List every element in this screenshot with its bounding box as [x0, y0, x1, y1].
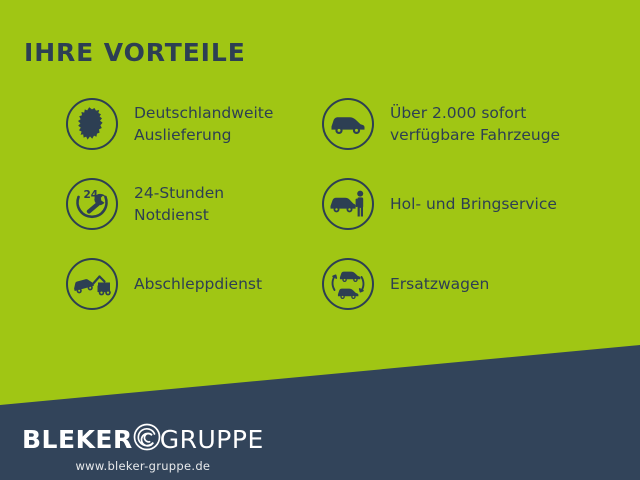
feature-hol-und-bringservice: Hol- und Bringservice	[322, 178, 557, 230]
diagonal-navy-panel	[0, 0, 640, 480]
germany-map-icon	[66, 98, 118, 150]
feature-verfuegbare-fahrzeuge: Über 2.000 sofort verfügbare Fahrzeuge	[322, 98, 560, 150]
feature-ersatzwagen: Ersatzwagen	[322, 258, 489, 310]
feature-label: Deutschlandweite Auslieferung	[134, 102, 273, 146]
feature-label: Abschleppdienst	[134, 273, 262, 295]
logo-bleker-text: BLEKER	[22, 425, 133, 454]
feature-label: Über 2.000 sofort verfügbare Fahrzeuge	[390, 102, 560, 146]
logo-website-url: www.bleker-gruppe.de	[75, 459, 210, 473]
feature-label: Hol- und Bringservice	[390, 193, 557, 215]
car-with-person-icon	[322, 178, 374, 230]
feature-24-stunden-notdienst: 24 24-Stunden Notdienst	[66, 178, 224, 230]
tow-truck-icon	[66, 258, 118, 310]
feature-deutschlandweite-auslieferung: Deutschlandweite Auslieferung	[66, 98, 273, 150]
spiral-circle-logo-icon	[132, 422, 162, 456]
logo-wordmark: BLEKER GRUPPE	[22, 424, 264, 454]
page-title: IHRE VORTEILE	[24, 38, 246, 67]
footer-logo-block: BLEKER GRUPPE www.bleker-gruppe.de	[22, 424, 264, 473]
feature-label: Ersatzwagen	[390, 273, 489, 295]
24-hour-wrench-icon: 24	[66, 178, 118, 230]
feature-label: 24-Stunden Notdienst	[134, 182, 224, 226]
feature-abschleppdienst: Abschleppdienst	[66, 258, 262, 310]
car-icon	[322, 98, 374, 150]
slide-canvas: IHRE VORTEILE Deutschlandweite Ausliefer…	[0, 0, 640, 480]
logo-gruppe-text: GRUPPE	[160, 425, 264, 454]
car-exchange-icon	[322, 258, 374, 310]
